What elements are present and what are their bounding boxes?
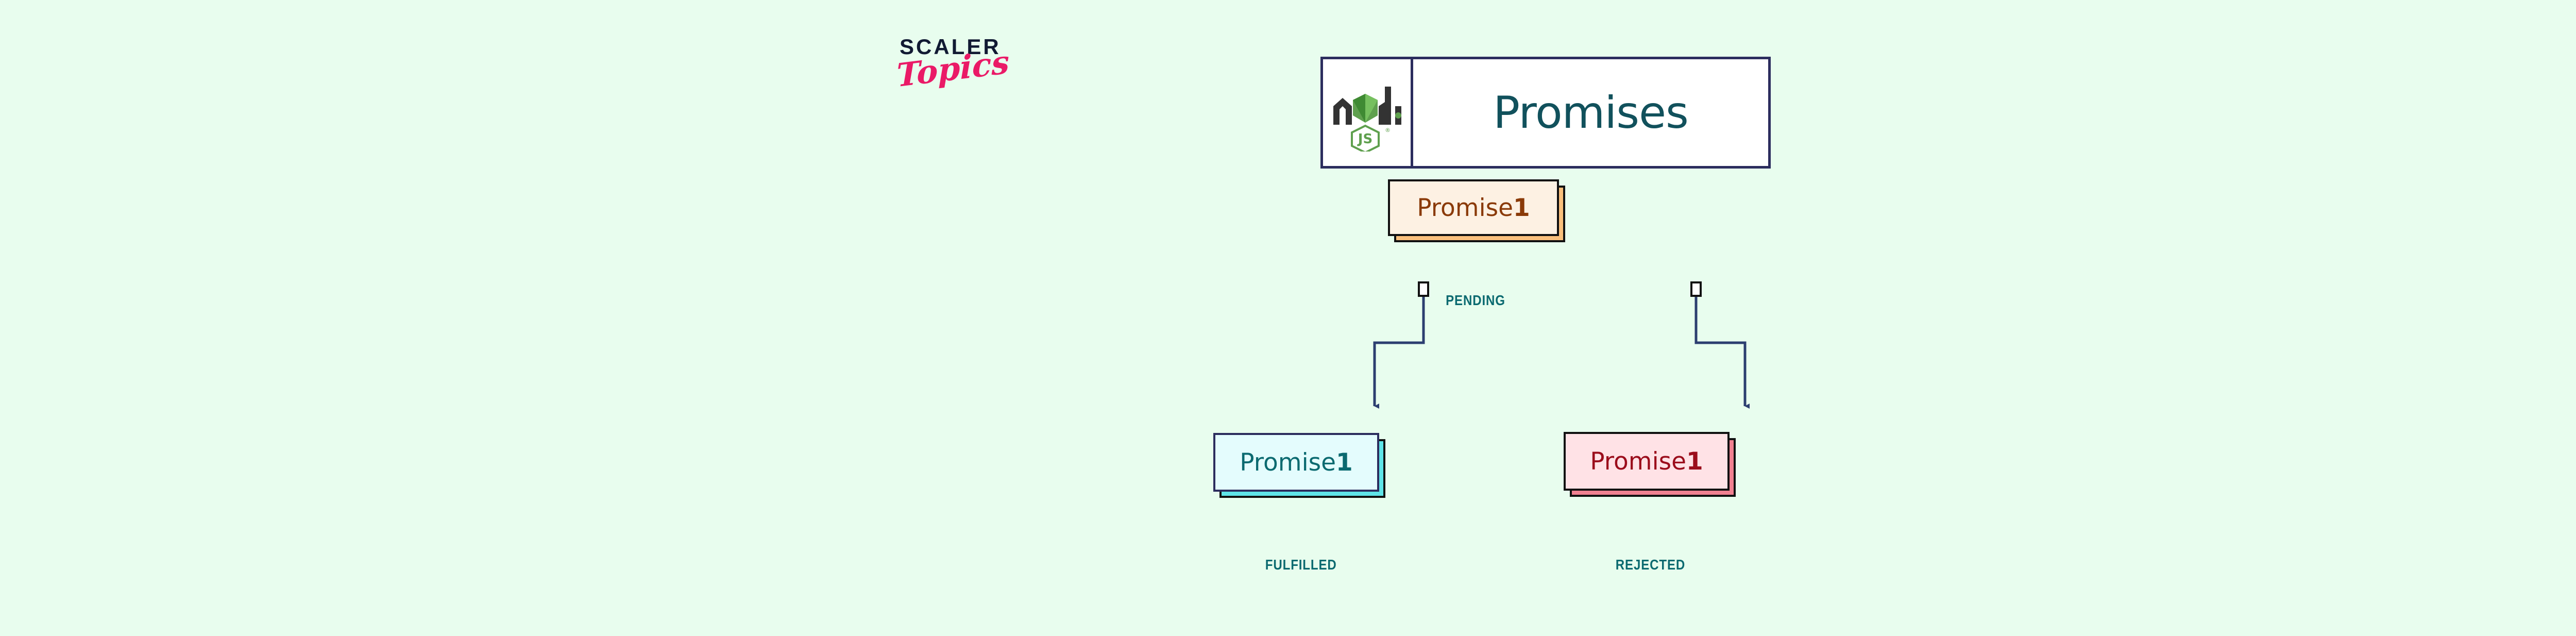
connector-lines	[0, 0, 2576, 636]
nodejs-logo-icon: JS ®	[1331, 74, 1402, 152]
state-caption-pending: PENDING	[1445, 292, 1506, 309]
fulfilled-card-label: Promise1	[1240, 450, 1353, 475]
state-caption-fulfilled: FULFILLED	[1265, 557, 1327, 573]
page-title: Promises	[1493, 91, 1688, 135]
diagram-canvas: SCALER Topics	[0, 0, 2576, 636]
connector-to-rejected	[1696, 297, 1745, 406]
pending-connector-nub-right	[1690, 281, 1702, 297]
fulfilled-promise-card[interactable]: Promise1	[1213, 433, 1379, 492]
nodejs-logo-cell: JS ®	[1323, 59, 1413, 166]
pending-connector-nub-left	[1418, 281, 1429, 297]
connector-to-fulfilled	[1375, 297, 1423, 406]
rejected-card-label: Promise1	[1590, 449, 1703, 474]
pending-card-label: Promise1	[1417, 196, 1530, 220]
rejected-promise-card[interactable]: Promise1	[1564, 432, 1730, 491]
pending-promise-card[interactable]: Promise1	[1388, 179, 1559, 236]
svg-text:®: ®	[1385, 127, 1391, 133]
pending-card-face: Promise1	[1388, 179, 1559, 236]
state-caption-rejected: REJECTED	[1616, 557, 1677, 573]
svg-text:JS: JS	[1357, 131, 1372, 147]
scaler-topics-logo: SCALER Topics	[896, 36, 1061, 119]
header-title-cell: Promises	[1413, 59, 1768, 166]
header-banner: JS ® Promises	[1320, 57, 1771, 169]
fulfilled-card-face: Promise1	[1213, 433, 1379, 492]
rejected-card-face: Promise1	[1564, 432, 1730, 491]
